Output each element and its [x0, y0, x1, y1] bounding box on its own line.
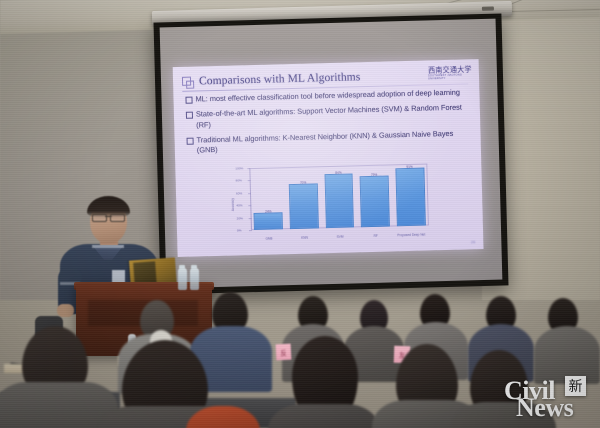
- chart-bar-group: 79%RF: [361, 165, 389, 228]
- chart-bars: 24%GNB70%KNN84%SVM79%RF91%Proposed Deep …: [249, 163, 429, 230]
- chart-y-tick: 0%: [237, 228, 242, 232]
- accuracy-bar-chart: Accuracy 100%80%60%40%20%0% 24%GNB70%KNN…: [223, 160, 439, 244]
- glasses-icon: [92, 214, 125, 220]
- namecard-char: 反: [280, 347, 287, 357]
- watermark-badge-icon: 新: [565, 376, 586, 396]
- bullet-text: State-of-the-art ML algorithms: Support …: [196, 102, 474, 130]
- chart-y-tick: 20%: [237, 216, 243, 220]
- chart-y-tick: 80%: [236, 179, 242, 183]
- chart-x-tick-label: KNN: [301, 236, 308, 240]
- watermark-line-2: News: [516, 395, 573, 421]
- slide-number: 26: [471, 239, 476, 244]
- bottle-cap: [191, 265, 197, 269]
- chart-bar-value-label: 24%: [265, 210, 271, 214]
- watermark: Civil News 新: [496, 376, 592, 422]
- projector-screen: Comparisons with ML Algorithms 西南交通大学 SO…: [153, 13, 508, 294]
- bullet-text: Traditional ML algorithms: K-Nearest Nei…: [196, 128, 474, 156]
- slide-title: Comparisons with ML Algorithms: [199, 71, 361, 87]
- audience-body: [268, 404, 380, 428]
- chart-y-tick: 100%: [235, 166, 243, 170]
- water-bottle: [178, 268, 187, 290]
- namecard: 反: [276, 344, 292, 361]
- slide-bullet-list: ML: most effective classification tool b…: [185, 87, 475, 161]
- bottle-cap: [179, 265, 185, 269]
- chart-bar-group: 84%SVM: [325, 165, 353, 228]
- chart-bar-group: 24%GNB: [254, 167, 282, 230]
- university-logo: 西南交通大学 SOUTHWEST JIAOTONG UNIVERSITY: [428, 66, 472, 80]
- presenter-hand: [57, 304, 74, 317]
- chart-bar-value-label: 79%: [371, 173, 377, 177]
- chart-bar: [324, 173, 354, 228]
- chart-bar-group: 91%Proposed Deep Net: [396, 164, 424, 227]
- chart-bar-value-label: 84%: [335, 171, 341, 175]
- chart-x-tick-label: RF: [374, 234, 378, 238]
- projected-slide: Comparisons with ML Algorithms 西南交通大学 SO…: [173, 59, 484, 257]
- chart-bar: [360, 176, 390, 228]
- screen-surface: Comparisons with ML Algorithms 西南交通大学 SO…: [160, 19, 503, 289]
- chart-y-tick: 40%: [236, 204, 242, 208]
- chart-bar: [289, 183, 319, 229]
- chart-bar-value-label: 70%: [300, 180, 306, 184]
- hollow-square-bullet-icon: [185, 97, 192, 104]
- hollow-square-bullet-icon: [187, 137, 194, 144]
- chart-x-tick-label: Proposed Deep Net: [397, 233, 425, 238]
- list-item: State-of-the-art ML algorithms: Support …: [186, 102, 474, 131]
- water-bottle: [190, 268, 199, 290]
- chart-y-axis-label: Accuracy: [231, 198, 235, 211]
- chart-bar: [254, 212, 283, 230]
- lecture-photo-scene: Comparisons with ML Algorithms 西南交通大学 SO…: [0, 0, 600, 428]
- presenter-collar-trim: [92, 245, 124, 248]
- chart-bar-value-label: 91%: [406, 164, 412, 168]
- hollow-square-bullet-icon: [186, 112, 193, 119]
- chart-x-tick-label: GNB: [265, 237, 272, 241]
- chart-y-tick: 60%: [236, 191, 242, 195]
- roller-end-cap: [482, 6, 494, 10]
- chart-x-tick-label: SVM: [337, 235, 344, 239]
- square-outline-icon: [182, 76, 193, 87]
- chart-bar-group: 70%KNN: [289, 166, 317, 229]
- chart-bar: [395, 167, 425, 226]
- watermark-badge-char: 新: [569, 379, 583, 393]
- list-item: Traditional ML algorithms: K-Nearest Nei…: [186, 128, 474, 157]
